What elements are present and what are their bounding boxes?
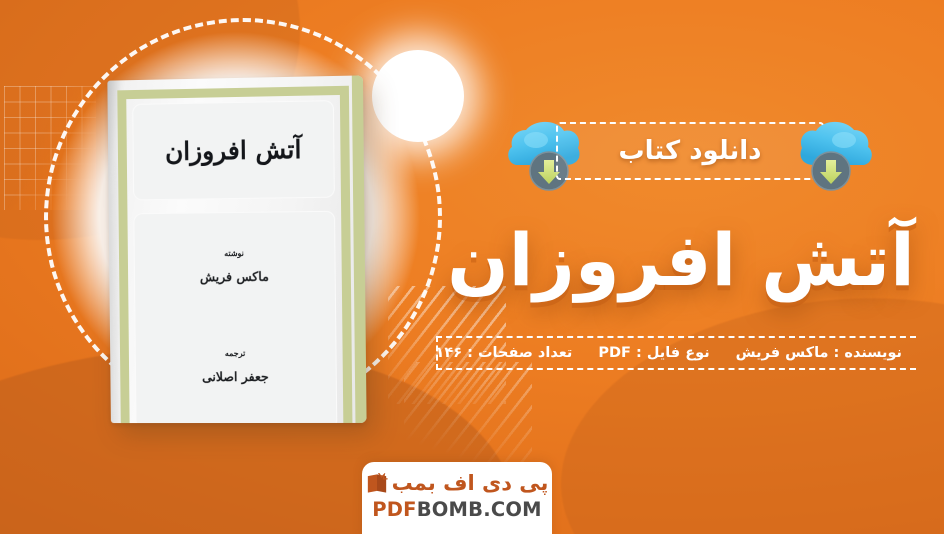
download-book-button[interactable]: دانلود کتاب xyxy=(556,122,824,180)
book-cover-title: آتش افروزان xyxy=(165,135,302,166)
metadata-author: نویسنده : ماکس فریش xyxy=(736,345,902,361)
diagonal-hatch-decoration-lower xyxy=(404,362,532,472)
book-cover-title-panel: آتش افروزان xyxy=(132,100,335,200)
book-cover-author-label: نوشته xyxy=(134,247,336,259)
book-cover-translator-name: جعفر اصلانی xyxy=(135,369,337,385)
book-cover-author-block: نوشته ماکس فریش xyxy=(134,247,336,285)
download-book-label: دانلود کتاب xyxy=(619,136,762,166)
site-logo-domain-secondary: BOMB.COM xyxy=(417,498,542,521)
glow-orb-decoration xyxy=(372,50,464,142)
cloud-download-icon xyxy=(796,114,874,194)
site-logo-domain: PDFBOMB.COM xyxy=(372,498,541,521)
site-logo[interactable]: پی دی اف بمب PDFBOMB.COM xyxy=(362,462,552,534)
book-cover-inner: آتش افروزان نوشته ماکس فریش ترجمه جعفر ا… xyxy=(107,75,366,423)
download-header-row: دانلود کتاب xyxy=(500,108,880,200)
book-promo-banner: آتش افروزان نوشته ماکس فریش ترجمه جعفر ا… xyxy=(0,0,944,534)
metadata-file-type: نوع فایل : PDF xyxy=(598,345,709,361)
site-logo-fa-text: پی دی اف بمب xyxy=(392,471,549,495)
book-cover-translator-label: ترجمه xyxy=(135,348,337,359)
book-bomb-icon xyxy=(366,473,388,494)
book-cover-credits-panel: نوشته ماکس فریش ترجمه جعفر اصلانی xyxy=(133,211,337,423)
book-title-heading-text: آتش افروزان xyxy=(447,222,915,300)
book-cover-author-name: ماکس فریش xyxy=(134,268,336,285)
metadata-page-count: تعداد صفحات : ۱۴۶ xyxy=(436,345,573,361)
book-cover-image: آتش افروزان نوشته ماکس فریش ترجمه جعفر ا… xyxy=(107,75,366,423)
site-logo-fa-row: پی دی اف بمب xyxy=(366,471,549,495)
book-cover-translator-block: ترجمه جعفر اصلانی xyxy=(135,348,337,385)
book-title-heading: آتش افروزان xyxy=(440,206,922,316)
site-logo-domain-primary: PDF xyxy=(372,498,416,521)
book-metadata-bar: نویسنده : ماکس فریش نوع فایل : PDF تعداد… xyxy=(436,336,916,370)
